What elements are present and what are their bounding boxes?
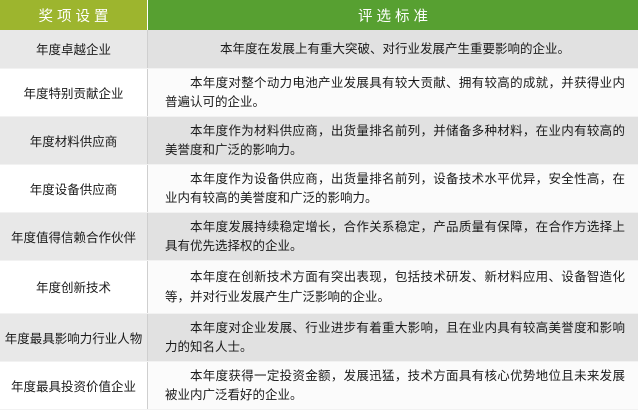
award-criteria-cell: 本年度作为材料供应商，出货量排名前列，并储备多种材料，在业内有较高的美誉度和广泛… — [148, 116, 638, 164]
table-row: 年度材料供应商 本年度作为材料供应商，出货量排名前列，并储备多种材料，在业内有较… — [0, 116, 638, 164]
table-row: 年度卓越企业 本年度在发展上有重大突破、对行业发展产生重要影响的企业。 — [0, 30, 638, 68]
table-row: 年度特别贡献企业 本年度对整个动力电池产业发展具有较大贡献、拥有较高的成就，并获… — [0, 68, 638, 116]
header-row: 奖项设置 评选标准 — [0, 0, 638, 30]
table-row: 年度值得信赖合作伙伴 本年度发展持续稳定增长，合作关系稳定，产品质量有保障，在合… — [0, 212, 638, 260]
award-name-cell: 年度材料供应商 — [0, 116, 148, 164]
award-name-cell: 年度卓越企业 — [0, 30, 148, 68]
table-row: 年度最具影响力行业人物 本年度对企业发展、行业进步有着重大影响，且在业内具有较高… — [0, 313, 638, 361]
column-header-selection-criteria: 评选标准 — [148, 0, 638, 30]
table-header: 奖项设置 评选标准 — [0, 0, 638, 30]
award-name-cell: 年度值得信赖合作伙伴 — [0, 212, 148, 260]
award-name-cell: 年度创新技术 — [0, 260, 148, 313]
award-criteria-table: 奖项设置 评选标准 年度卓越企业 本年度在发展上有重大突破、对行业发展产生重要影… — [0, 0, 638, 410]
award-criteria-cell: 本年度对企业发展、行业进步有着重大影响，且在业内具有较高美誉度和影响力的知名人士… — [148, 313, 638, 361]
award-name-cell: 年度特别贡献企业 — [0, 68, 148, 116]
award-criteria-cell: 本年度对整个动力电池产业发展具有较大贡献、拥有较高的成就，并获得业内普遍认可的企… — [148, 68, 638, 116]
award-criteria-cell: 本年度作为设备供应商，出货量排名前列，设备技术水平优异，安全性高，在业内有较高的… — [148, 164, 638, 212]
table-row: 年度创新技术 本年度在创新技术方面有突出表现，包括技术研发、新材料应用、设备智造… — [0, 260, 638, 313]
award-name-cell: 年度设备供应商 — [0, 164, 148, 212]
award-criteria-cell: 本年度在发展上有重大突破、对行业发展产生重要影响的企业。 — [148, 30, 638, 68]
award-criteria-cell: 本年度获得一定投资金额，发展迅猛，技术方面具有核心优势地位且未来发展被业内广泛看… — [148, 361, 638, 409]
award-name-cell: 年度最具投资价值企业 — [0, 361, 148, 409]
table-body: 年度卓越企业 本年度在发展上有重大突破、对行业发展产生重要影响的企业。 年度特别… — [0, 30, 638, 409]
column-header-award-setup: 奖项设置 — [0, 0, 148, 30]
award-name-cell: 年度最具影响力行业人物 — [0, 313, 148, 361]
table-row: 年度设备供应商 本年度作为设备供应商，出货量排名前列，设备技术水平优异，安全性高… — [0, 164, 638, 212]
award-criteria-cell: 本年度发展持续稳定增长，合作关系稳定，产品质量有保障，在合作方选择上具有优先选择… — [148, 212, 638, 260]
award-criteria-cell: 本年度在创新技术方面有突出表现，包括技术研发、新材料应用、设备智造化等，并对行业… — [148, 260, 638, 313]
table-row: 年度最具投资价值企业 本年度获得一定投资金额，发展迅猛，技术方面具有核心优势地位… — [0, 361, 638, 409]
